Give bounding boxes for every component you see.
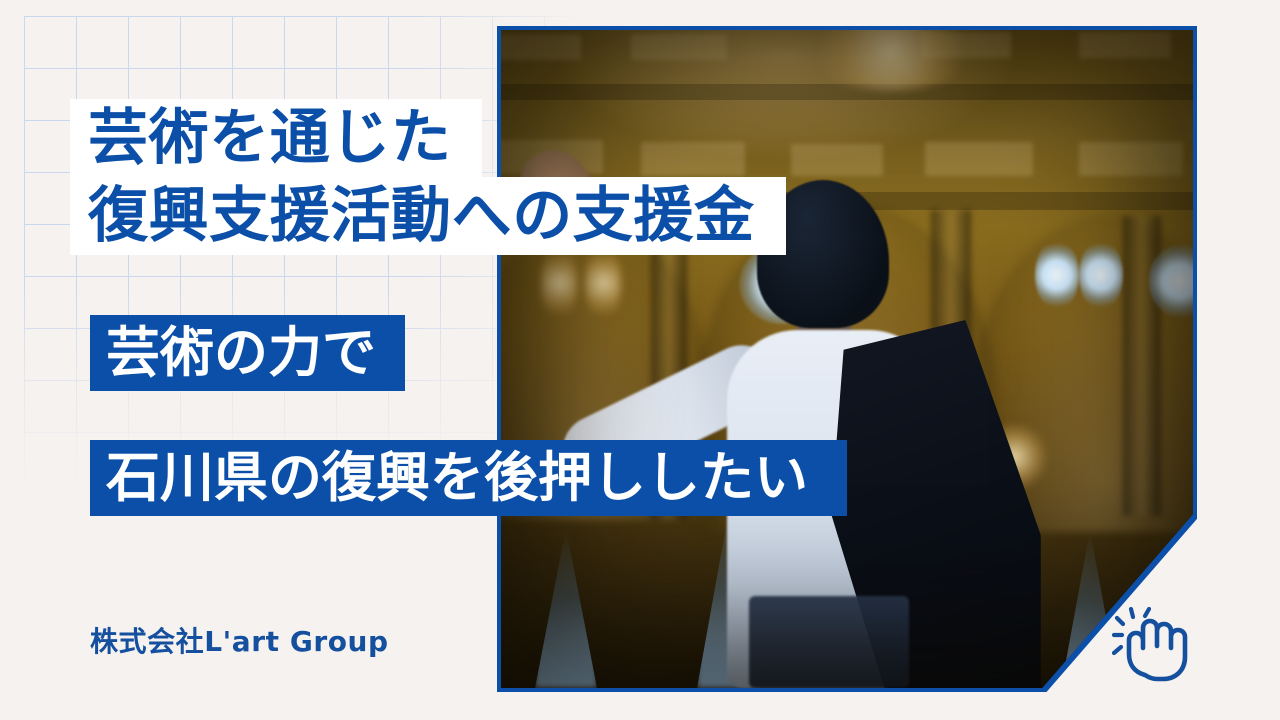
photo-vignette (501, 30, 1193, 688)
title-slide: 芸術を通じた 復興支援活動への支援金 芸術の力で 石川県の復興を後押ししたい 株… (0, 0, 1280, 720)
subheadline-line-2-text: 石川県の復興を後押ししたい (106, 451, 808, 505)
subheadline-line-2: 石川県の復興を後押ししたい (90, 440, 847, 516)
headline-line-1-text: 芸術を通じた (88, 108, 452, 168)
subheadline-line-1: 芸術の力で (90, 315, 405, 391)
headline-line-2-text: 復興支援活動への支援金 (88, 186, 755, 246)
company-name: 株式会社L'art Group (90, 620, 389, 660)
hero-photo (501, 30, 1193, 688)
subheadline-line-1-text: 芸術の力で (106, 326, 376, 380)
headline-line-2: 復興支援活動への支援金 (70, 177, 786, 255)
hero-photo-frame (497, 26, 1197, 692)
click-hand-icon (1112, 602, 1204, 688)
headline-line-1: 芸術を通じた (70, 99, 482, 177)
